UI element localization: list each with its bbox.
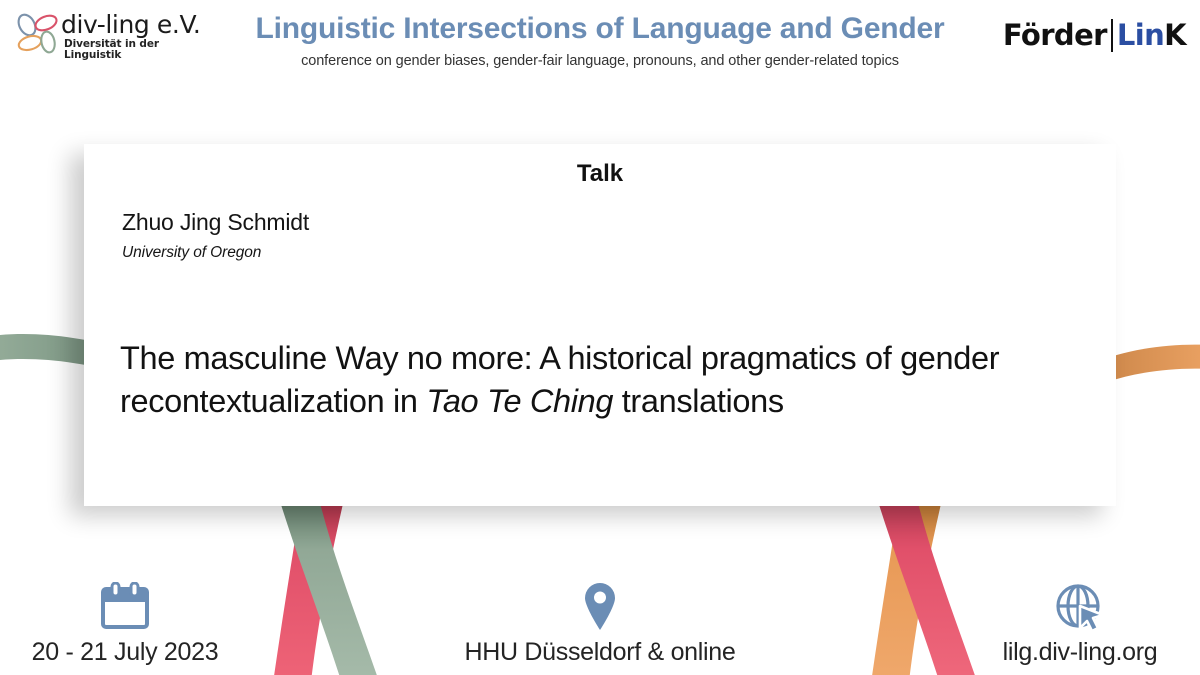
talk-title: The masculine Way no more: A historical … [120,337,1082,423]
divling-logo: div-ling e.V. Diversität in der Linguist… [14,8,204,66]
session-type-label: Talk [84,160,1116,188]
conference-subtitle: conference on gender biases, gender-fair… [210,53,990,69]
conference-heading-block: Linguistic Intersections of Language and… [210,12,990,69]
talk-title-italic-segment: Tao Te Ching [426,383,613,419]
conference-slide: div-ling e.V. Diversität in der Linguist… [0,0,1200,675]
slide-footer: 20 - 21 July 2023 HHU Düsseldorf & onlin… [0,545,1200,675]
footer-date-item: 20 - 21 July 2023 [0,576,250,667]
conference-title: Linguistic Intersections of Language and… [210,12,990,47]
slide-header: div-ling e.V. Diversität in der Linguist… [0,0,1200,92]
globe-cursor-icon[interactable] [960,576,1200,632]
funder-logo-separator [1111,19,1113,52]
talk-card: Talk Zhuo Jing Schmidt University of Ore… [84,144,1116,506]
four-ellipses-logo-icon [14,12,64,56]
footer-location-item: HHU Düsseldorf & online [430,576,770,667]
funder-logo-part1: Förder [1003,18,1107,52]
talk-title-segment: translations [613,383,784,419]
footer-location-label: HHU Düsseldorf & online [430,638,770,667]
funder-logo: Förder Lin K [1003,18,1186,52]
footer-date-label: 20 - 21 July 2023 [0,638,250,667]
speaker-name: Zhuo Jing Schmidt [122,209,309,236]
speaker-affiliation: University of Oregon [122,244,261,262]
footer-website-item[interactable]: lilg.div-ling.org [960,576,1200,667]
calendar-icon [0,576,250,632]
divling-wordmark: div-ling e.V. [61,12,200,37]
funder-logo-part3: K [1164,18,1186,52]
map-pin-icon [430,576,770,632]
footer-website-label[interactable]: lilg.div-ling.org [960,638,1200,667]
divling-tagline: Diversität in der Linguistik [64,39,204,60]
funder-logo-part2: Lin [1117,18,1164,52]
